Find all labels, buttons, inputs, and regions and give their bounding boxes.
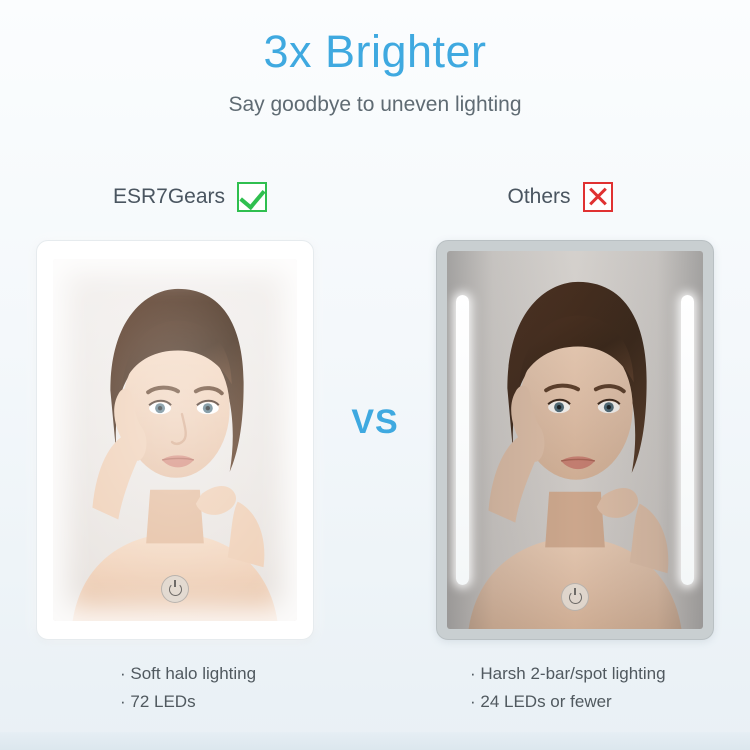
product-comparison-page: 3x Brighter Say goodbye to uneven lighti… [0,0,750,750]
check-mark-icon [237,182,267,212]
touch-power-button-left[interactable] [161,575,189,603]
other-mirror-image [436,240,714,640]
vs-divider-label: VS [325,403,425,442]
left-feature-list: · Soft halo lighting · 72 LEDs [120,660,256,716]
page-subtitle: Say goodbye to uneven lighting [0,93,750,117]
bottom-gradient-band [0,732,750,750]
left-column-label: ESR7Gears [40,178,340,216]
left-brand-label: ESR7Gears [113,185,225,209]
right-feature-list: · Harsh 2-bar/spot lighting · 24 LEDs or… [470,660,666,716]
portrait-photo-bright [53,259,297,621]
list-item: · Harsh 2-bar/spot lighting [470,660,666,688]
right-column-label: Others [410,178,710,216]
list-item: · Soft halo lighting [120,660,256,688]
esr-mirror-image [36,240,314,640]
right-brand-label: Others [507,185,570,209]
list-item: · 24 LEDs or fewer [470,688,666,716]
led-bar-left [456,295,469,585]
list-item: · 72 LEDs [120,688,256,716]
power-icon [169,583,182,596]
left-mirror-screen [53,259,297,621]
right-mirror-screen [447,251,703,629]
touch-power-button-right[interactable] [561,583,589,611]
x-mark-icon [583,182,613,212]
power-icon [569,591,582,604]
portrait-photo-dim [447,251,703,629]
page-title: 3x Brighter [0,26,750,78]
led-bar-right [681,295,694,585]
